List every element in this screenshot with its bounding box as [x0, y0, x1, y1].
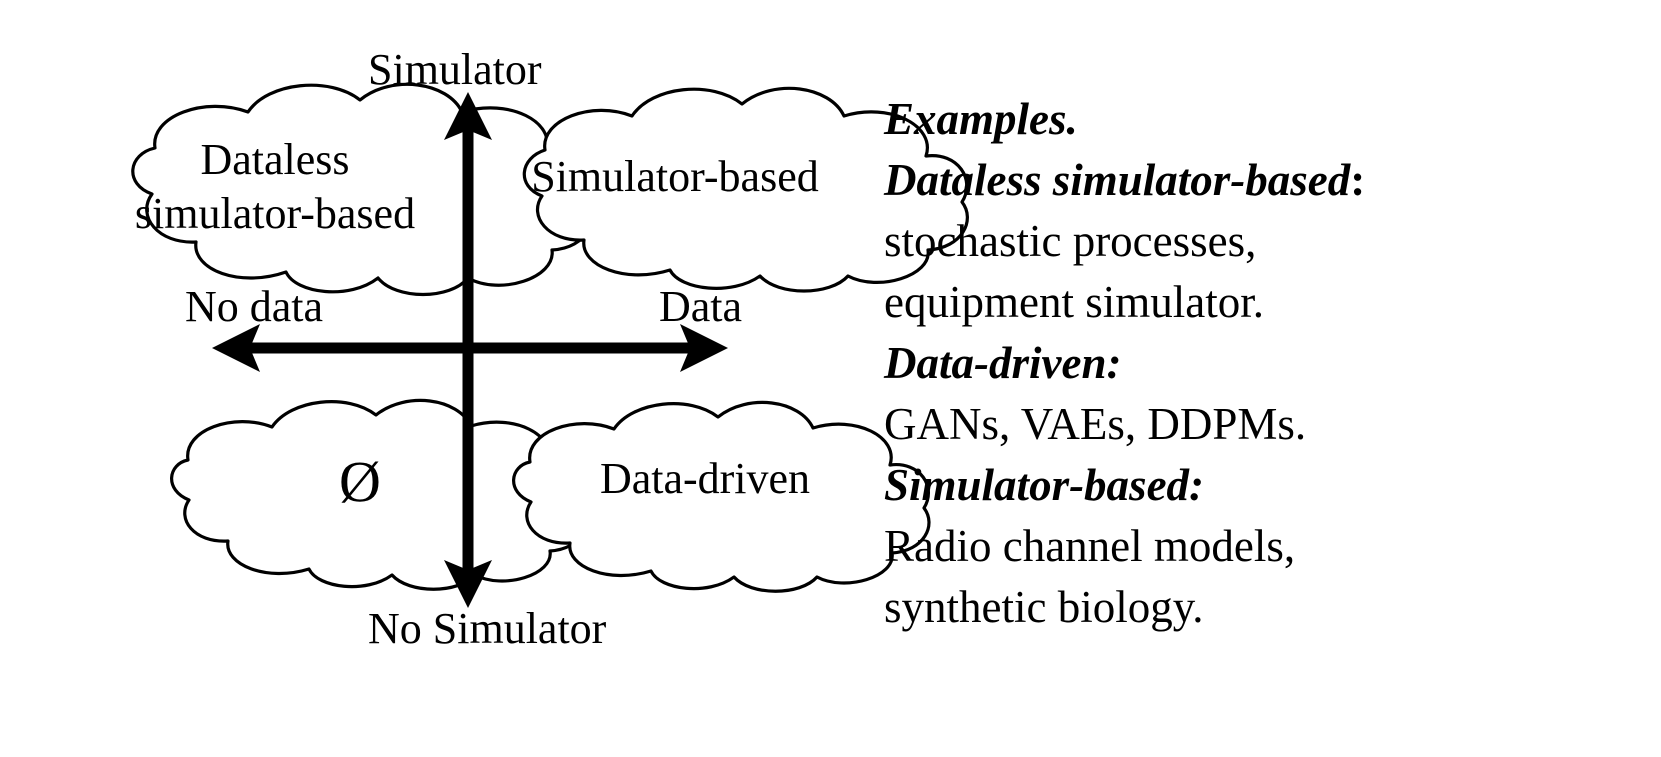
example-term-simulator-based: Simulator-based:: [884, 455, 1484, 516]
axis-label-data: Data: [659, 285, 742, 329]
axis-label-simulator: Simulator: [368, 48, 542, 92]
quadrant-label-top-left-line1: Dataless: [100, 133, 450, 187]
axis-label-no-simulator: No Simulator: [368, 607, 606, 651]
quadrant-label-top-left: Dataless simulator-based: [100, 133, 450, 240]
example-items-0-line1: stochastic processes,: [884, 211, 1484, 272]
examples-panel: Examples. Dataless simulator-based: stoc…: [884, 89, 1484, 638]
quadrant-label-bottom-left: Ø: [190, 452, 530, 511]
example-items-1-line1: GANs, VAEs, DDPMs.: [884, 394, 1484, 455]
quadrant-label-bottom-right: Data-driven: [555, 457, 855, 502]
example-term-text-0: Dataless simulator-based: [884, 155, 1350, 205]
examples-heading: Examples.: [884, 89, 1484, 150]
example-term-punct-0: :: [1350, 155, 1365, 205]
example-term-dataless-simulator-based: Dataless simulator-based:: [884, 150, 1484, 211]
quadrant-label-top-right: Simulator-based: [505, 155, 845, 200]
axis-label-no-data: No data: [185, 285, 323, 329]
example-items-2-line2: synthetic biology.: [884, 577, 1484, 638]
quadrant-label-top-left-line2: simulator-based: [100, 187, 450, 241]
figure-canvas: Simulator No Simulator No data Data Data…: [0, 0, 1661, 757]
example-items-2-line1: Radio channel models,: [884, 516, 1484, 577]
example-term-data-driven: Data-driven:: [884, 333, 1484, 394]
example-items-0-line2: equipment simulator.: [884, 272, 1484, 333]
